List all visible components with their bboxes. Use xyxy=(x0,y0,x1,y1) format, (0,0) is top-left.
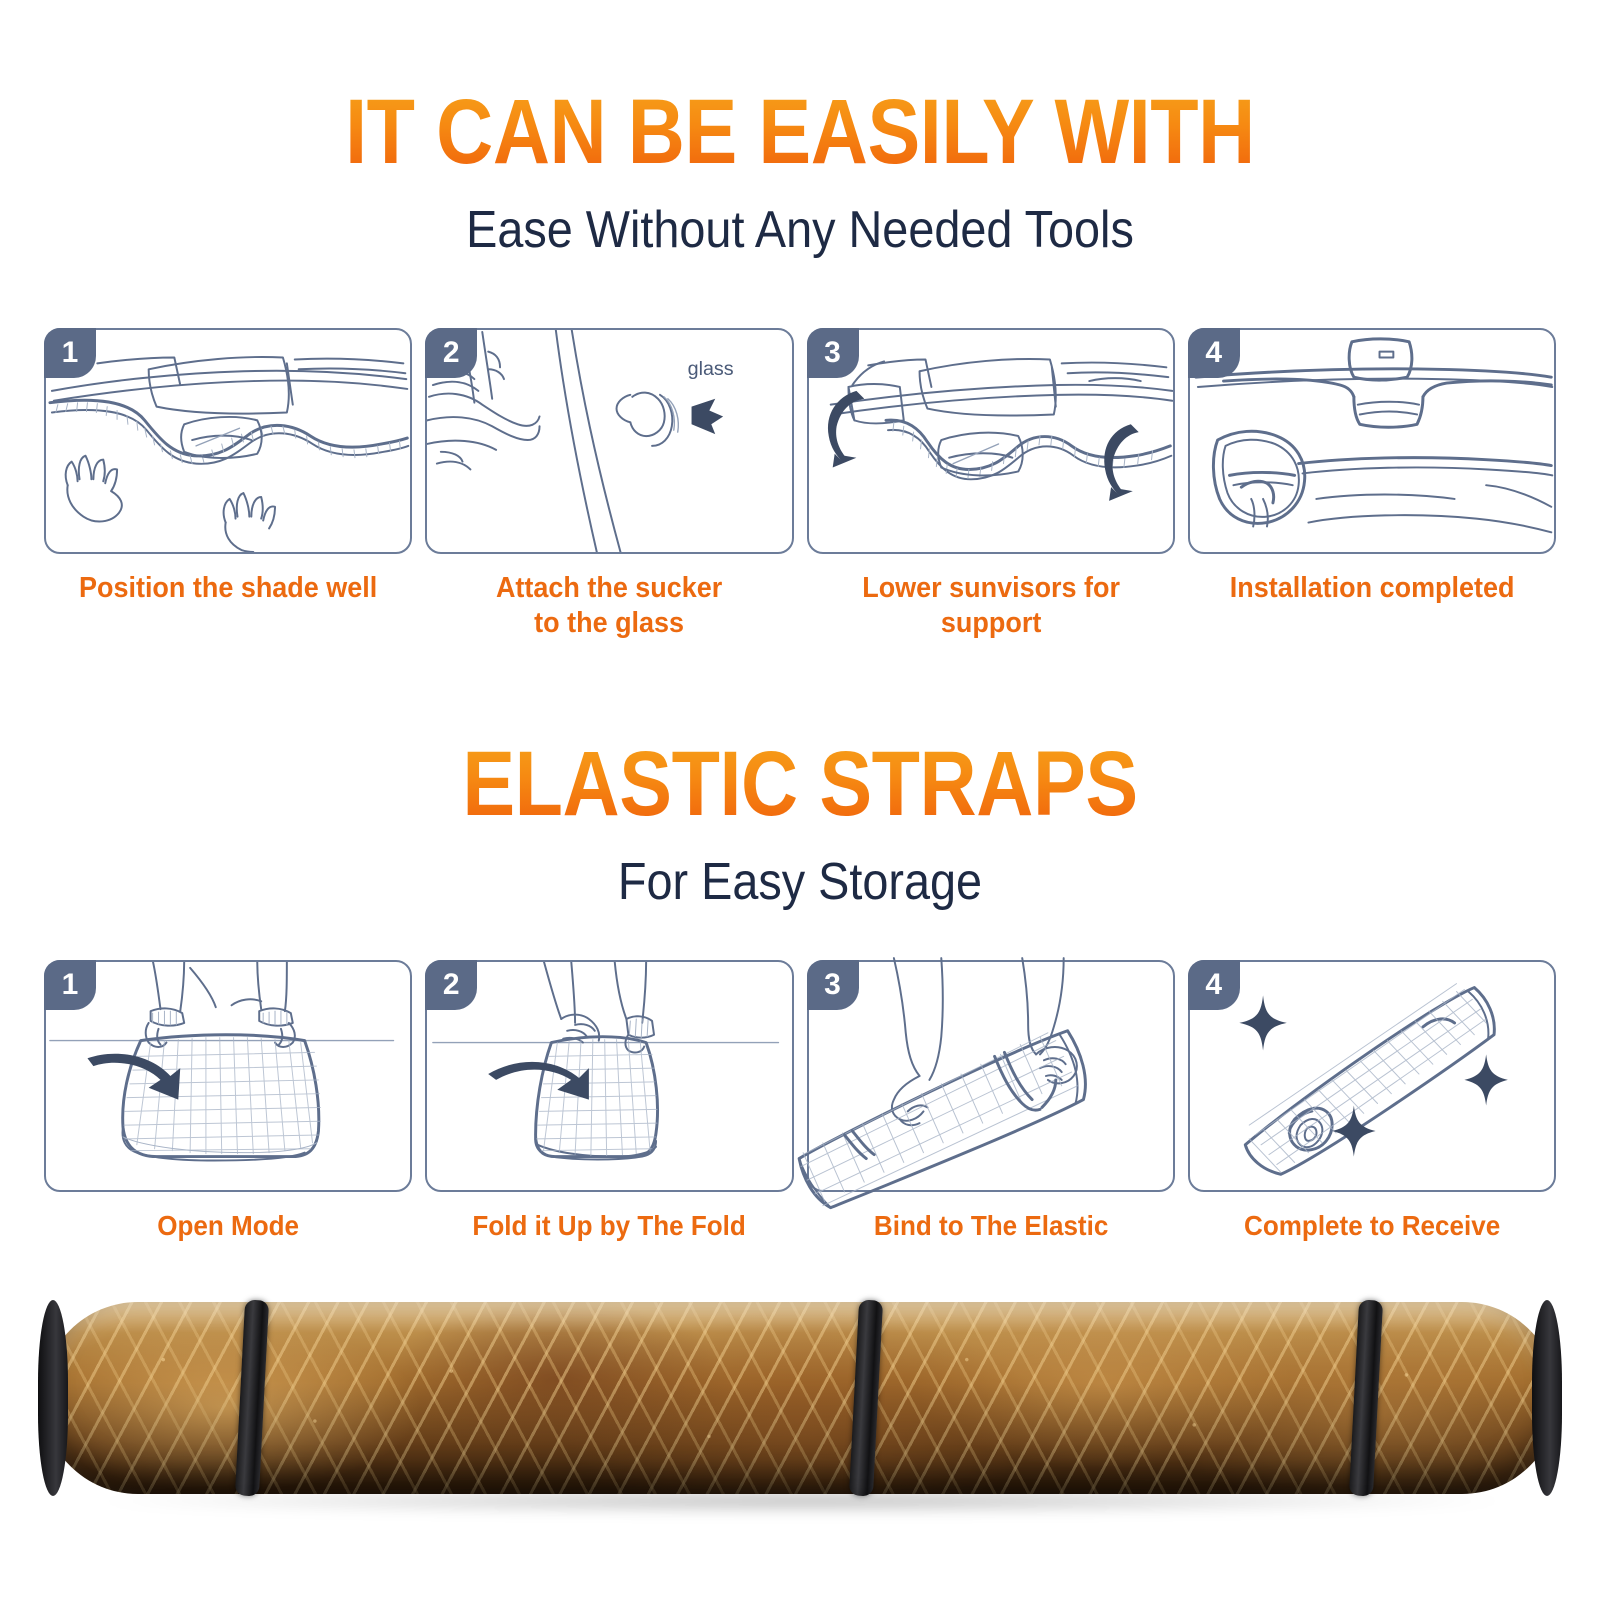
car-interior-steering-wheel-icon xyxy=(1190,330,1554,552)
storage-step-4-frame: 4 xyxy=(1188,960,1556,1192)
hand-suction-cup-glass-icon: glass xyxy=(427,330,791,552)
sunshade-texture xyxy=(42,1302,1558,1494)
install-step-1-frame: 1 xyxy=(44,328,412,554)
install-step-3-caption: Lower sunvisors for support xyxy=(819,571,1161,642)
storage-step-1-frame: 1 xyxy=(44,960,412,1192)
install-step-4-frame: 4 xyxy=(1188,328,1556,554)
install-step-1-caption: Position the shade well xyxy=(57,571,399,606)
install-step-2[interactable]: 2 xyxy=(425,328,793,642)
glass-label: glass xyxy=(688,358,734,380)
storage-steps-row: 1 xyxy=(44,960,1556,1243)
step-badge-number: 3 xyxy=(807,960,859,1010)
step-badge-number: 2 xyxy=(425,328,477,378)
installation-steps-row: 1 xyxy=(44,328,1556,642)
rolled-shade-elastic-bind-icon xyxy=(809,962,1173,1190)
storage-step-4[interactable]: 4 xyxy=(1188,960,1556,1243)
storage-step-2-caption: Fold it Up by The Fold xyxy=(438,1209,780,1243)
sunshade-end-cap-right xyxy=(1532,1300,1562,1496)
step-badge-number: 1 xyxy=(44,328,96,378)
storage-step-2-frame: 2 xyxy=(425,960,793,1192)
hands-holding-open-shade-icon xyxy=(46,962,410,1190)
windshield-shade-hands-icon xyxy=(46,330,410,552)
install-step-3[interactable]: 3 xyxy=(807,328,1175,642)
step-badge-number: 2 xyxy=(425,960,477,1010)
hands-folding-shade-icon xyxy=(427,962,791,1190)
storage-step-1[interactable]: 1 xyxy=(44,960,412,1243)
rolled-sunshade-body xyxy=(42,1302,1558,1494)
step-badge-number: 4 xyxy=(1188,960,1240,1010)
install-step-2-caption: Attach the sucker to the glass xyxy=(438,571,780,642)
install-step-4[interactable]: 4 xyxy=(1188,328,1556,642)
rolled-shade-sparkles-icon xyxy=(1190,962,1554,1190)
storage-step-4-caption: Complete to Receive xyxy=(1201,1209,1543,1243)
install-section-header: IT CAN BE EASILY WITH Ease Without Any N… xyxy=(0,86,1600,256)
storage-section-header: ELASTIC STRAPS For Easy Storage xyxy=(0,738,1600,908)
install-step-4-caption: Installation completed xyxy=(1201,571,1543,606)
sunshade-end-cap-left xyxy=(38,1300,68,1496)
storage-section-title: ELASTIC STRAPS xyxy=(112,738,1488,830)
step-badge-number: 1 xyxy=(44,960,96,1010)
product-photo xyxy=(42,1302,1558,1494)
storage-step-2[interactable]: 2 xyxy=(425,960,793,1243)
storage-step-3[interactable]: 3 xyxy=(807,960,1175,1243)
install-step-2-frame: 2 xyxy=(425,328,793,554)
step-badge-number: 4 xyxy=(1188,328,1240,378)
infographic-page: IT CAN BE EASILY WITH Ease Without Any N… xyxy=(0,0,1600,1600)
step-badge-number: 3 xyxy=(807,328,859,378)
storage-section-subtitle: For Easy Storage xyxy=(80,856,1520,908)
install-step-1[interactable]: 1 xyxy=(44,328,412,642)
storage-step-3-frame: 3 xyxy=(807,960,1175,1192)
product-drop-shadow xyxy=(102,1488,1502,1514)
windshield-sunvisor-arrows-icon xyxy=(809,330,1173,552)
storage-step-1-caption: Open Mode xyxy=(57,1209,399,1243)
install-step-3-frame: 3 xyxy=(807,328,1175,554)
storage-step-3-caption: Bind to The Elastic xyxy=(819,1209,1161,1243)
install-section-subtitle: Ease Without Any Needed Tools xyxy=(80,204,1520,256)
install-section-title: IT CAN BE EASILY WITH xyxy=(112,86,1488,178)
